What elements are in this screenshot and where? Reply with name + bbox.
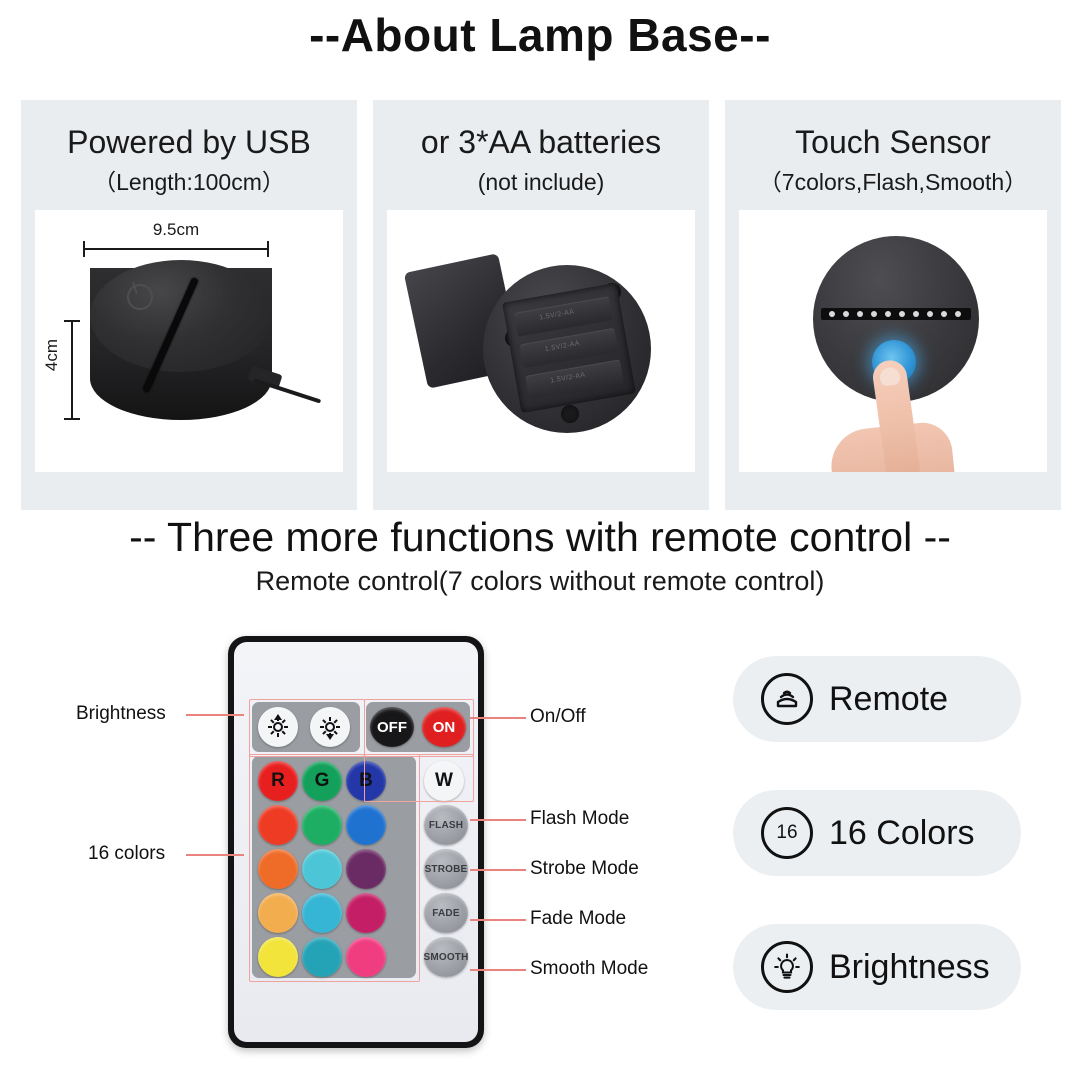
fingernail (879, 366, 901, 387)
color-button-green[interactable]: G (302, 761, 342, 801)
color-swatch[interactable] (346, 849, 386, 889)
bulb-icon (761, 941, 813, 993)
led-strip-slot (821, 308, 971, 320)
leader-brightness (186, 714, 244, 716)
touch-sensor-photo (739, 210, 1047, 472)
callout-onoff: On/Off (530, 706, 586, 728)
color-swatch[interactable] (302, 805, 342, 845)
feature-pill-list: Remote 16 16 Colors (733, 656, 1021, 1058)
leader-fade (470, 919, 526, 921)
card-touch-sensor: Touch Sensor （7colors,Flash,Smooth） (725, 100, 1061, 510)
color-swatch[interactable] (258, 805, 298, 845)
feature-card-row: Powered by USB （Length:100cm） 9.5cm 4cm … (21, 100, 1061, 510)
leader-16-colors (186, 854, 244, 856)
card-aa-batteries: or 3*AA batteries (not include) 1.5V/2-A… (373, 100, 709, 510)
rubber-foot (561, 405, 579, 423)
leader-strobe (470, 869, 526, 871)
card-powered-by-usb: Powered by USB （Length:100cm） 9.5cm 4cm (21, 100, 357, 510)
color-swatch[interactable] (302, 893, 342, 933)
width-dimension-label: 9.5cm (83, 220, 269, 240)
feature-label: Brightness (829, 948, 990, 987)
battery-well: 1.5V/2-AA 1.5V/2-AA 1.5V/2-AA (502, 283, 636, 413)
feature-label: 16 Colors (829, 814, 975, 853)
brightness-down-button[interactable] (310, 707, 350, 747)
card-title: Touch Sensor (795, 126, 991, 160)
brightness-up-button[interactable] (258, 707, 298, 747)
card-subtitle: （Length:100cm） (93, 170, 285, 194)
usb-lamp-base-photo: 9.5cm 4cm (35, 210, 343, 472)
infographic-page: --About Lamp Base-- Powered by USB （Leng… (0, 0, 1080, 1080)
battery-slot-label: 1.5V/2-AA (544, 340, 580, 353)
callout-strobe: Strobe Mode (530, 858, 639, 880)
strobe-mode-button[interactable]: STROBE (424, 849, 468, 889)
battery-slot-label: 1.5V/2-AA (550, 371, 586, 384)
card-subtitle: （7colors,Flash,Smooth） (759, 170, 1027, 194)
sixteen-circle-icon: 16 (761, 807, 813, 859)
callout-flash: Flash Mode (530, 808, 629, 830)
on-button[interactable]: ON (422, 707, 466, 747)
sun-down-icon (320, 717, 340, 737)
flash-mode-button[interactable]: FLASH (424, 805, 468, 845)
leader-flash (470, 819, 526, 821)
card-title: or 3*AA batteries (421, 126, 661, 160)
leader-onoff (470, 717, 526, 719)
color-swatch[interactable] (302, 937, 342, 977)
height-dimension-line (71, 320, 73, 420)
card-subtitle: (not include) (478, 170, 605, 194)
page-title: --About Lamp Base-- (0, 8, 1080, 62)
callout-fade: Fade Mode (530, 908, 626, 930)
width-dimension-line (83, 248, 269, 250)
section-title: -- Three more functions with remote cont… (0, 514, 1080, 561)
sun-up-icon (268, 717, 288, 737)
feature-pill-remote[interactable]: Remote (733, 656, 1021, 742)
remote-control: OFF ON R G B W FLASH STROBE FADE SM (228, 636, 484, 1048)
feature-label: Remote (829, 680, 948, 719)
color-swatch[interactable] (258, 849, 298, 889)
callout-smooth: Smooth Mode (530, 958, 648, 980)
fade-mode-button[interactable]: FADE (424, 893, 468, 933)
color-button-red[interactable]: R (258, 761, 298, 801)
color-button-white[interactable]: W (424, 761, 464, 801)
battery-slot-label: 1.5V/2-AA (539, 308, 575, 321)
sixteen-badge: 16 (776, 822, 797, 844)
color-swatch[interactable] (258, 893, 298, 933)
leader-smooth (470, 969, 526, 971)
callout-brightness: Brightness (76, 703, 166, 725)
color-swatch[interactable] (302, 849, 342, 889)
height-dimension-label: 4cm (42, 325, 62, 385)
feature-pill-brightness[interactable]: Brightness (733, 924, 1021, 1010)
color-button-blue[interactable]: B (346, 761, 386, 801)
color-swatch[interactable] (346, 937, 386, 977)
color-swatch[interactable] (346, 805, 386, 845)
remote-face: OFF ON R G B W FLASH STROBE FADE SM (234, 642, 478, 1042)
remote-signal-icon (761, 673, 813, 725)
color-swatch[interactable] (346, 893, 386, 933)
section-subtitle: Remote control(7 colors without remote c… (0, 566, 1080, 597)
feature-pill-16-colors[interactable]: 16 16 Colors (733, 790, 1021, 876)
color-swatch[interactable] (258, 937, 298, 977)
card-title: Powered by USB (67, 126, 311, 160)
off-button[interactable]: OFF (370, 707, 414, 747)
battery-compartment-photo: 1.5V/2-AA 1.5V/2-AA 1.5V/2-AA (387, 210, 695, 472)
callout-16-colors: 16 colors (88, 843, 165, 865)
smooth-mode-button[interactable]: SMOOTH (424, 937, 468, 977)
